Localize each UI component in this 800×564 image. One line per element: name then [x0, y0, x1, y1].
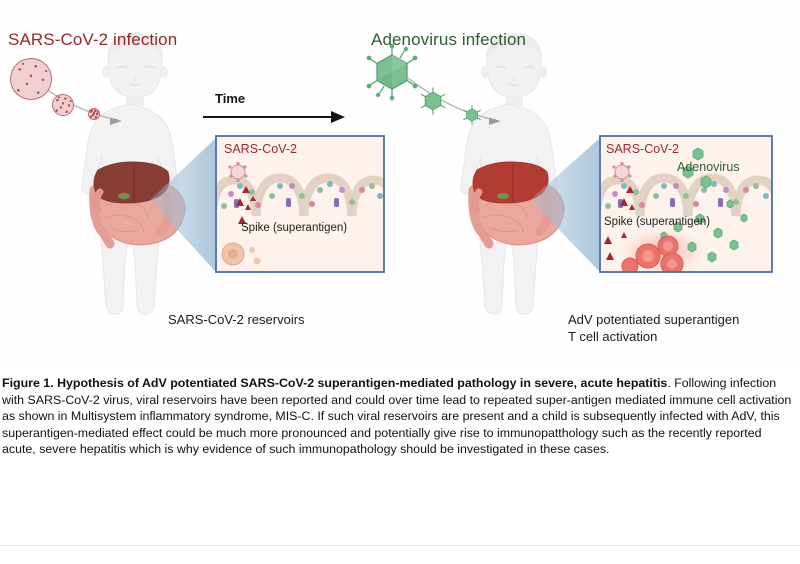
figure-image-area: SARS-CoV-2 infection Adenovirus infectio… — [0, 0, 800, 368]
sars-cov-2-virion-icon-small — [88, 108, 100, 120]
inset-right-spike-label: Spike (superantigen) — [604, 216, 710, 228]
inset-left-content — [212, 136, 396, 272]
figure-legend: Figure 1. Hypothesis of AdV potentiated … — [2, 375, 797, 458]
inset-right-virus-label: SARS-CoV-2 — [606, 142, 679, 156]
sars-cov-2-virion-icon-large — [10, 58, 52, 100]
inset-left-spike-label: Spike (superantigen) — [241, 222, 347, 234]
inset-right-content — [596, 136, 780, 280]
bottom-divider — [0, 545, 800, 546]
time-arrow-icon — [199, 93, 349, 127]
child-body-silhouette-icon-right — [461, 33, 564, 314]
sars-infection-title: SARS-CoV-2 infection — [8, 30, 177, 50]
adenovirus-virion-icon-large — [367, 44, 481, 125]
child-body-silhouette-icon-left — [82, 33, 185, 314]
scene-caption-right: AdV potentiated superantigen T cell acti… — [568, 311, 739, 345]
sars-cov-2-virion-icon-medium — [52, 94, 74, 116]
scene-caption-left: SARS-CoV-2 reservoirs — [168, 311, 305, 328]
inset-right-adenovirus-label: Adenovirus — [677, 160, 740, 174]
figure-legend-title: Figure 1. Hypothesis of AdV potentiated … — [2, 376, 667, 390]
time-axis: Time — [199, 93, 349, 127]
adenovirus-infection-title: Adenovirus infection — [371, 30, 526, 50]
inset-left-virus-label: SARS-CoV-2 — [224, 142, 297, 156]
